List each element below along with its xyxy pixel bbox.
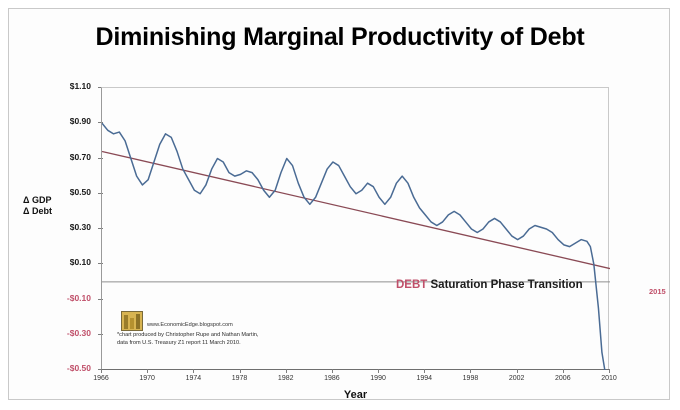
y-axis-tick-label: -$0.10 (45, 294, 91, 303)
credit-source: data from U.S. Treasury Z1 report 11 Mar… (117, 340, 241, 346)
y-axis-tick-label: $0.10 (45, 258, 91, 267)
y-axis-title: Δ GDP Δ Debt (23, 195, 81, 217)
credit-website: www.EconomicEdge.blogspot.com (147, 322, 233, 328)
x-axis-tick-label: 1994 (404, 375, 444, 382)
trendline-path (102, 151, 610, 268)
y-axis-title-line2: Δ Debt (23, 206, 52, 216)
y-axis-tick-label: $0.90 (45, 117, 91, 126)
x-axis-tick-label: 2006 (543, 375, 583, 382)
y-axis-tick-label: $0.30 (45, 223, 91, 232)
x-axis-tick-label: 1970 (127, 375, 167, 382)
x-axis-tick-label: 1990 (358, 375, 398, 382)
logo-bar-2 (130, 318, 134, 329)
x-axis-tick-label: 1982 (266, 375, 306, 382)
y-axis-tick-label: $0.70 (45, 153, 91, 162)
y-axis-tick-label: -$0.50 (45, 364, 91, 373)
y-axis-tick-label: $1.10 (45, 82, 91, 91)
x-axis-tick-label: 1998 (450, 375, 490, 382)
y-axis-tick-label: $0.50 (45, 188, 91, 197)
x-axis-tick-label: 1966 (81, 375, 121, 382)
x-axis-title: Year (101, 389, 610, 401)
trendline-zero-crossing-label: 2015 (649, 287, 666, 296)
annotation-debt-word: DEBT (396, 279, 427, 291)
credit-authors: *chart produced by Christopher Rupe and … (117, 332, 258, 338)
chart-frame: Diminishing Marginal Productivity of Deb… (8, 8, 670, 400)
y-axis-tick-label: -$0.30 (45, 329, 91, 338)
economic-edge-logo-icon (121, 311, 143, 331)
x-axis-tick-label: 2010 (589, 375, 629, 382)
x-axis-tick-label: 1978 (220, 375, 260, 382)
x-axis-tick-label: 1974 (173, 375, 213, 382)
x-axis-tick-label: 2002 (497, 375, 537, 382)
x-axis-tick-label: 1986 (312, 375, 352, 382)
logo-bar-3 (136, 314, 140, 329)
plot-area-wrapper: Δ GDP Δ Debt $1.10$0.90$0.70$0.50$0.30$0… (9, 9, 671, 401)
debt-saturation-annotation: DEBT Saturation Phase Transition (396, 279, 583, 291)
annotation-text: Saturation Phase Transition (431, 279, 583, 291)
logo-bar-1 (124, 315, 128, 329)
